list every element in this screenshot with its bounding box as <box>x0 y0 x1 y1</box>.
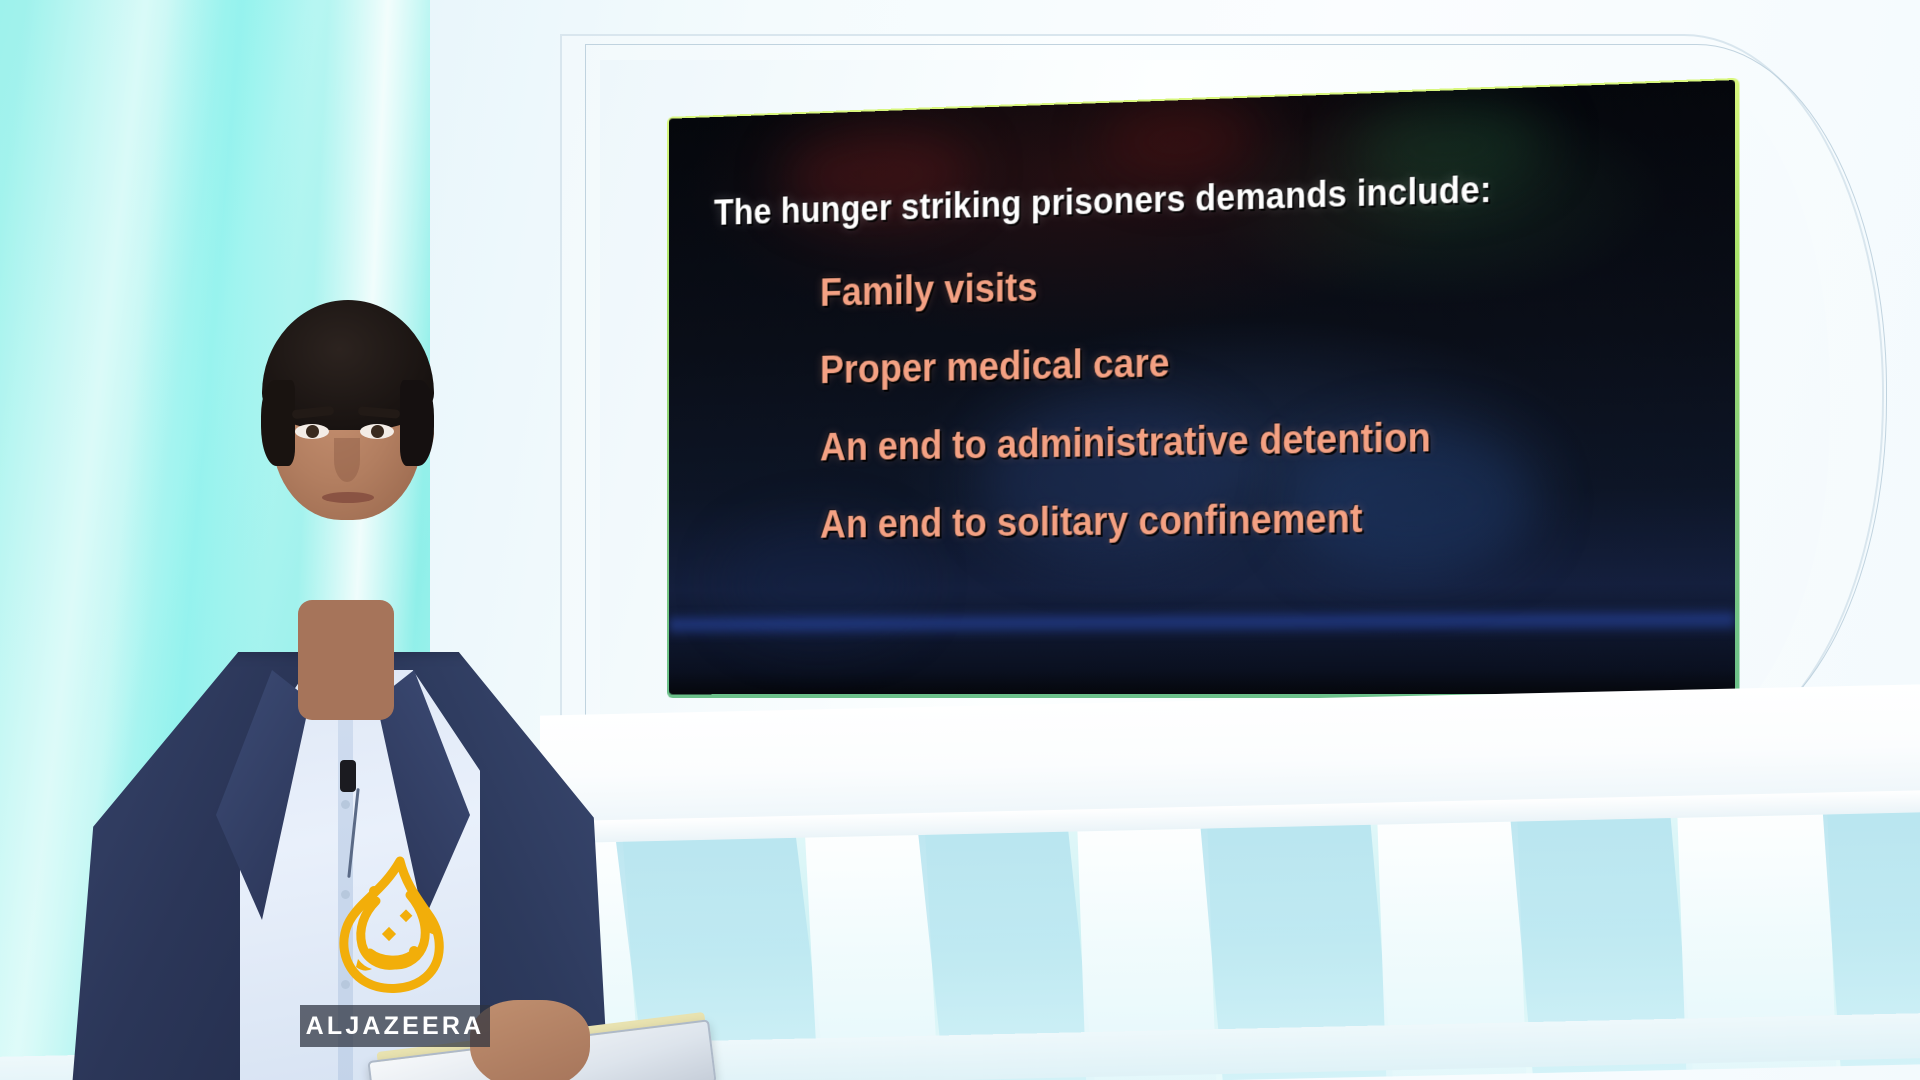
network-logo: ALJAZEERA <box>300 855 490 1080</box>
eye <box>360 424 394 439</box>
list-item: Proper medical care <box>820 333 1632 390</box>
graphic-headline: The hunger striking prisoners demands in… <box>714 165 1604 234</box>
aljazeera-flame-icon <box>314 855 474 1005</box>
studio-video-screen: The hunger striking prisoners demands in… <box>669 80 1735 694</box>
neck <box>298 600 394 720</box>
hair-side <box>261 380 295 466</box>
lapel-microphone-icon <box>340 760 356 792</box>
network-name-bar: ALJAZEERA <box>300 1005 490 1047</box>
pupil <box>306 425 319 438</box>
network-name: ALJAZEERA <box>306 1012 485 1041</box>
mouth <box>322 492 374 503</box>
hair-side <box>400 380 434 466</box>
demands-list: Family visits Proper medical care An end… <box>714 251 1686 546</box>
broadcast-screenshot: The hunger striking prisoners demands in… <box>0 0 1920 1080</box>
shirt-button <box>341 800 350 809</box>
on-screen-graphic: The hunger striking prisoners demands in… <box>669 80 1735 694</box>
pupil <box>371 425 384 438</box>
list-item: An end to administrative detention <box>820 414 1632 467</box>
nose <box>334 438 360 482</box>
eye <box>295 424 329 439</box>
list-item: An end to solitary confinement <box>820 496 1632 545</box>
list-item: Family visits <box>820 252 1632 313</box>
